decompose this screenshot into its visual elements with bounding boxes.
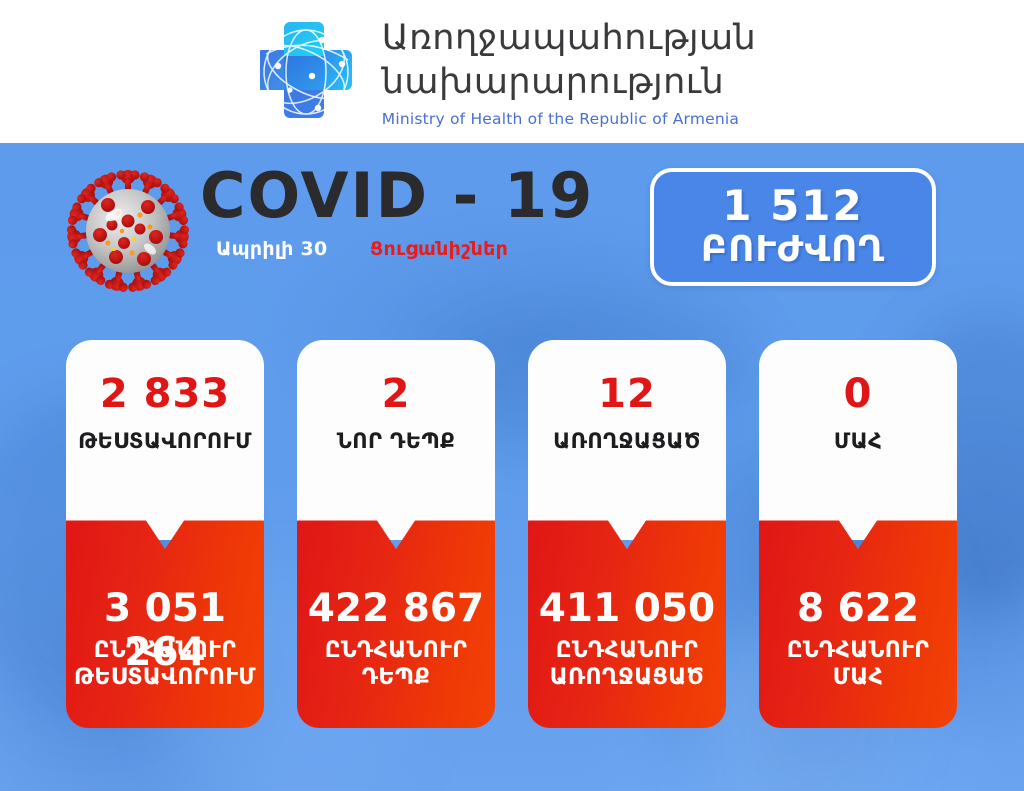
stat-card: 2 ՆՈՐ ԴԵՊՔ 422 867 ԸՆԴՀԱՆՈՒՐ ԴԵՊՔ [297, 340, 495, 728]
ministry-name-line1: Առողջապահության [382, 16, 756, 60]
stat-card-daily: 0 ՄԱՀ [759, 340, 957, 540]
report-date: Ապրիլի 30 [216, 238, 328, 260]
stat-card-daily: 2 833 ԹԵՍՏԱՎՈՐՈՒՄ [66, 340, 264, 540]
daily-value: 12 [528, 372, 726, 416]
indicators-label: Ցուցանիշներ [370, 238, 508, 260]
daily-value: 0 [759, 372, 957, 416]
page-title: COVID - 19 [200, 165, 594, 227]
daily-value: 2 833 [66, 372, 264, 416]
treated-badge: 1 512 ԲՈՒԺՎՈՂ [650, 168, 936, 286]
stat-card: 12 ԱՌՈՂՋԱՑԱԾ 411 050 ԸՆԴՀԱՆՈՒՐ ԱՌՈՂՋԱՑԱԾ [528, 340, 726, 728]
total-label: ԸՆԴՀԱՆՈՒՐ ՄԱՀ [759, 637, 957, 691]
stat-card: 2 833 ԹԵՍՏԱՎՈՐՈՒՄ 3 051 264 ԸՆԴՀԱՆՈՒՐ ԹԵ… [66, 340, 264, 728]
daily-label: ՆՈՐ ԴԵՊՔ [297, 428, 495, 454]
total-value: 8 622 [759, 587, 957, 631]
site-header: Առողջապահության նախարարություն Ministry … [0, 0, 1024, 143]
treated-label: ԲՈՒԺՎՈՂ [701, 230, 885, 270]
daily-label: ԱՌՈՂՋԱՑԱԾ [528, 428, 726, 454]
header-text-block: Առողջապահության նախարարություն Ministry … [382, 16, 756, 128]
stat-cards-row: 2 833 ԹԵՍՏԱՎՈՐՈՒՄ 3 051 264 ԸՆԴՀԱՆՈՒՐ ԹԵ… [0, 340, 1024, 730]
total-value: 422 867 [297, 587, 495, 631]
total-value: 411 050 [528, 587, 726, 631]
stat-card-daily: 2 ՆՈՐ ԴԵՊՔ [297, 340, 495, 540]
ministry-name-line2: նախարարություն [382, 60, 756, 104]
daily-label: ԹԵՍՏԱՎՈՐՈՒՄ [66, 428, 264, 454]
health-cross-network-logo-icon [252, 16, 360, 128]
daily-value: 2 [297, 372, 495, 416]
total-label: ԸՆԴՀԱՆՈՒՐ ԴԵՊՔ [297, 637, 495, 691]
stat-card-daily: 12 ԱՌՈՂՋԱՑԱԾ [528, 340, 726, 540]
total-label: ԸՆԴՀԱՆՈՒՐ ԱՌՈՂՋԱՑԱԾ [528, 637, 726, 691]
header-inner: Առողջապահության նախարարություն Ministry … [252, 16, 756, 128]
stat-card: 0 ՄԱՀ 8 622 ԸՆԴՀԱՆՈՒՐ ՄԱՀ [759, 340, 957, 728]
treated-value: 1 512 [722, 184, 864, 228]
total-label: ԸՆԴՀԱՆՈՒՐ ԹԵՍՏԱՎՈՐՈՒՄ [66, 637, 264, 691]
ministry-name-english: Ministry of Health of the Republic of Ar… [382, 110, 756, 128]
daily-label: ՄԱՀ [759, 428, 957, 454]
coronavirus-particle-icon [64, 165, 192, 297]
